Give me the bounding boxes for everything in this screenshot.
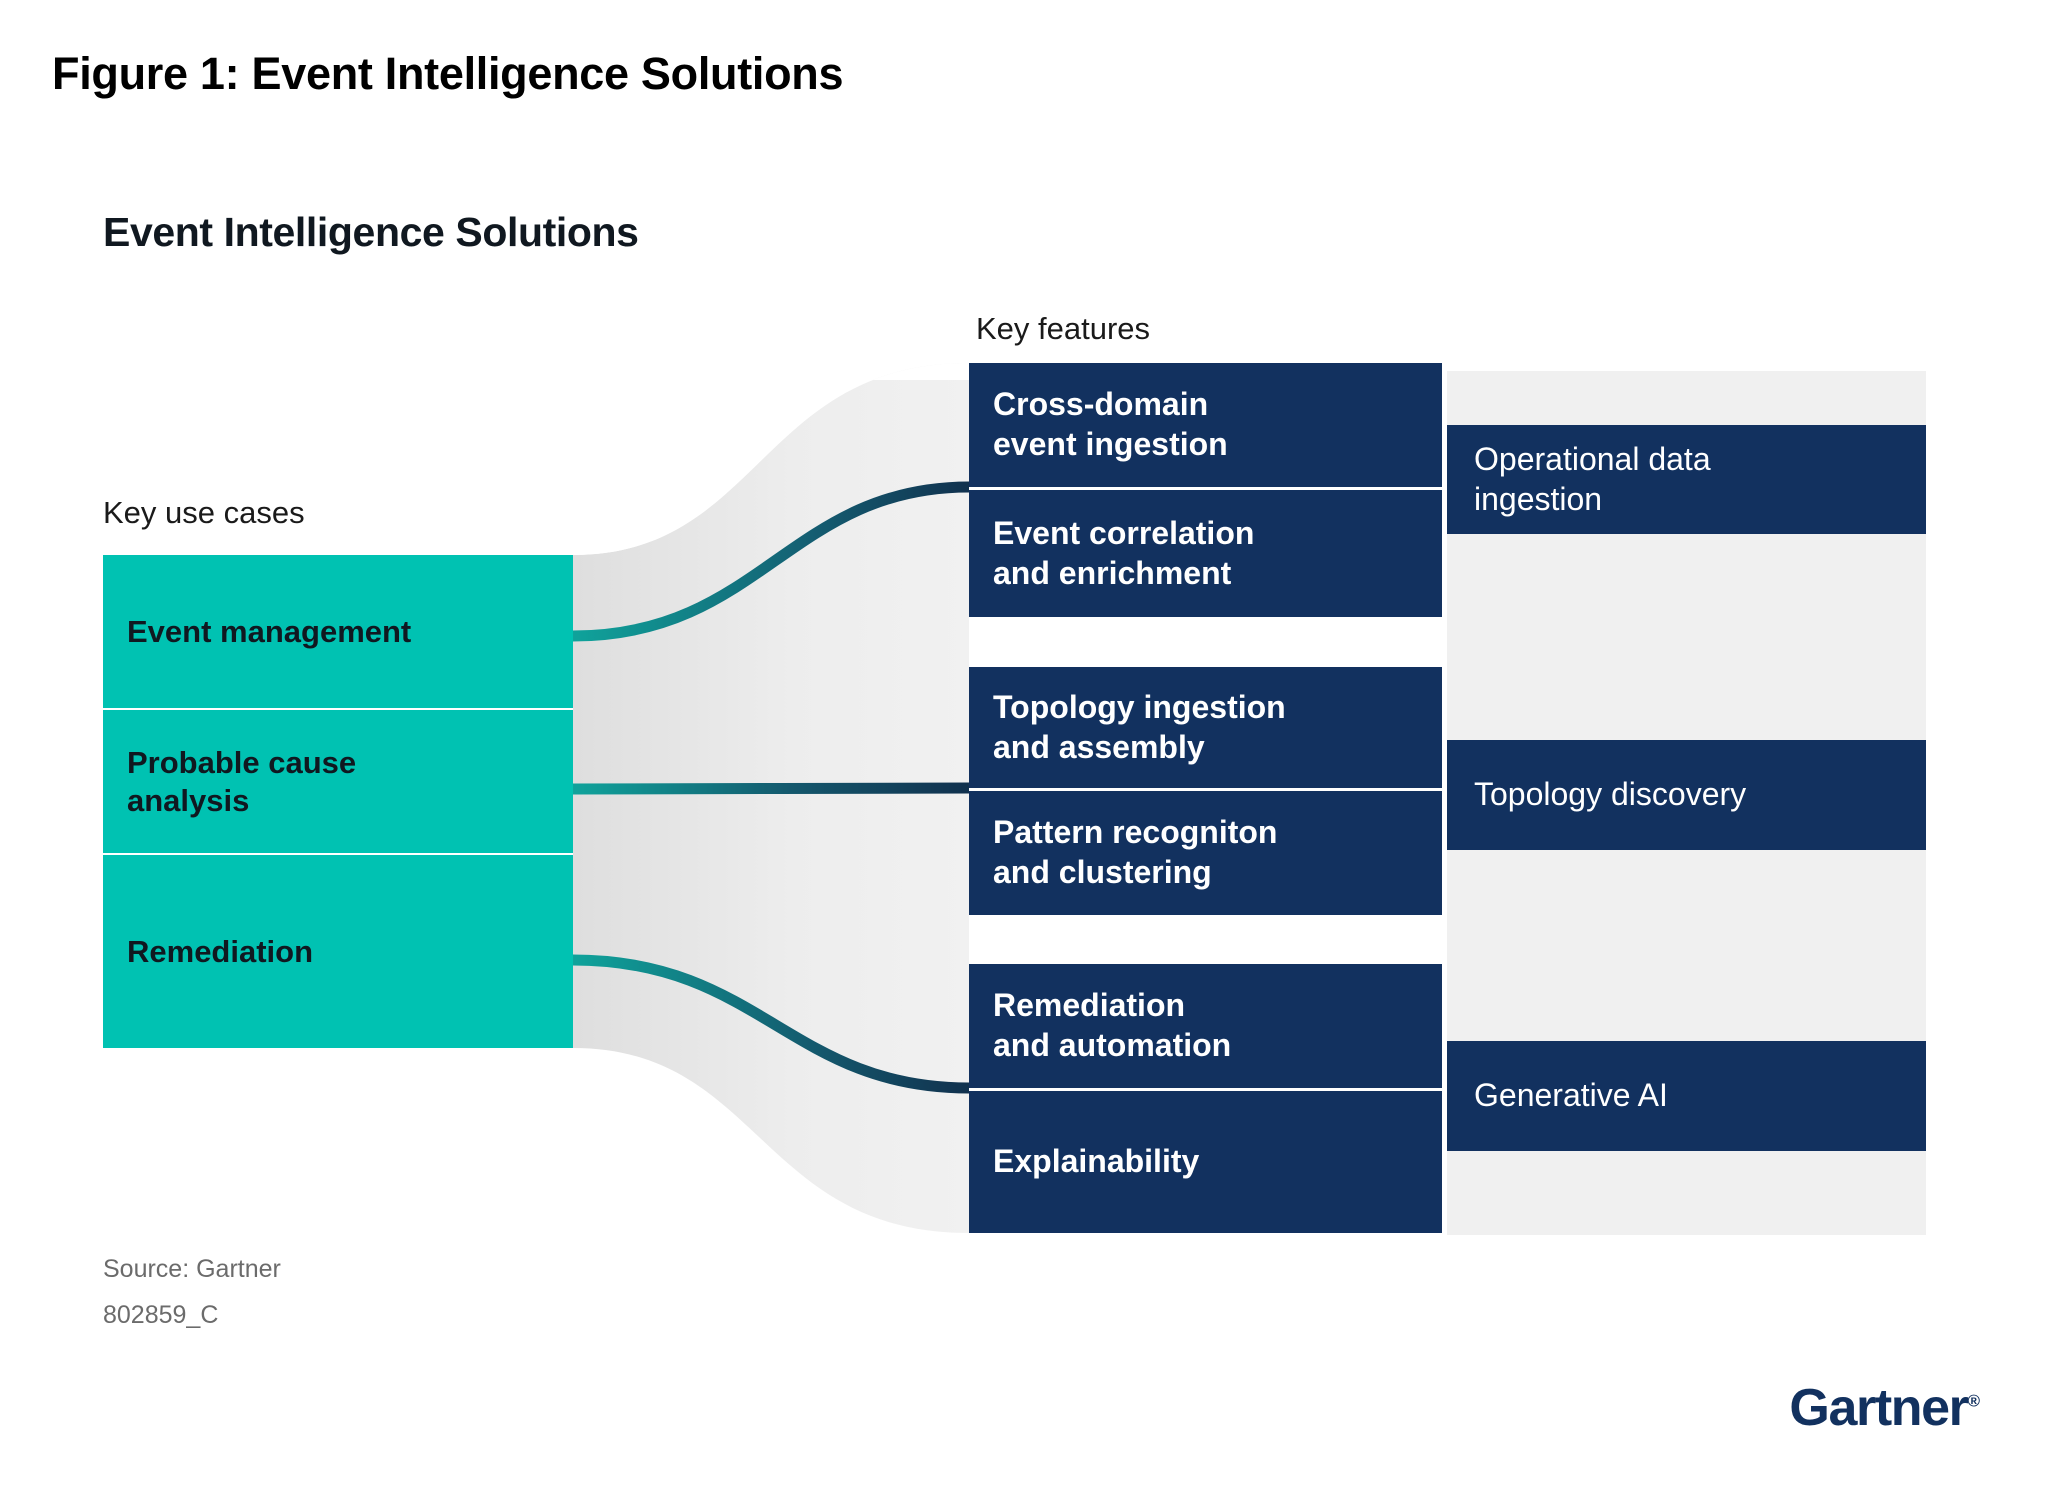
feature-box-explainability[interactable]: Explainability [969, 1091, 1442, 1233]
ribbon-band [573, 363, 969, 1233]
use-case-box-probable-cause-analysis[interactable]: Probable causeanalysis [103, 710, 573, 853]
link-remediation [573, 960, 969, 1088]
use-case-box-event-management[interactable]: Event management [103, 555, 573, 708]
feature-box-remediation-and-automation[interactable]: Remediationand automation [969, 964, 1442, 1088]
feature-box-topology-ingestion-and-assembly[interactable]: Topology ingestionand assembly [969, 667, 1442, 788]
use-case-box-remediation[interactable]: Remediation [103, 855, 573, 1048]
ribbon-notch-top [573, 363, 969, 555]
capability-box-topology-discovery[interactable]: Topology discovery [1447, 740, 1926, 850]
link-event-management [573, 487, 969, 636]
link-probable-cause [573, 788, 969, 789]
document-id: 802859_C [103, 1301, 218, 1330]
column-header-use-cases: Key use cases [103, 495, 305, 531]
feature-box-cross-domain-event-ingestion[interactable]: Cross-domainevent ingestion [969, 363, 1442, 487]
gartner-logo-text: Gartner [1789, 1379, 1967, 1437]
figure-canvas: Figure 1: Event Intelligence Solutions E… [0, 0, 2048, 1506]
chart-title: Event Intelligence Solutions [103, 209, 639, 256]
gartner-logo: Gartner® [1789, 1378, 1980, 1438]
figure-title: Figure 1: Event Intelligence Solutions [52, 48, 843, 100]
capability-box-generative-ai[interactable]: Generative AI [1447, 1041, 1926, 1151]
feature-box-pattern-recognition-and-clustering[interactable]: Pattern recognitonand clustering [969, 791, 1442, 915]
registered-trademark-icon: ® [1967, 1392, 1980, 1411]
source-attribution: Source: Gartner [103, 1255, 281, 1284]
column-header-key-features: Key features [976, 311, 1150, 347]
feature-box-event-correlation-and-enrichment[interactable]: Event correlationand enrichment [969, 490, 1442, 617]
capability-box-operational-data-ingestion[interactable]: Operational dataingestion [1447, 425, 1926, 534]
